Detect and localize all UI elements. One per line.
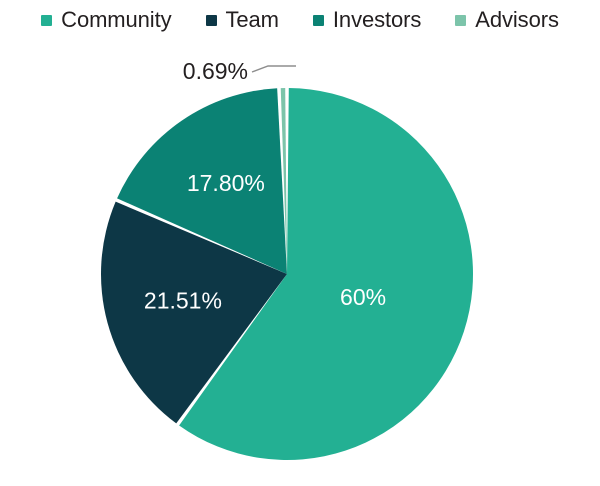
pie-plot-area: 60%21.51%17.80%0.69% [0,34,600,486]
legend-swatch-icon-advisors [455,15,466,26]
legend-item-advisors[interactable]: Advisors [455,9,559,31]
legend-item-investors[interactable]: Investors [313,9,421,31]
pie-slices [101,88,473,460]
advisors-leader-line [252,66,296,72]
pie-svg: 60%21.51%17.80%0.69% [0,34,600,486]
legend-item-community[interactable]: Community [41,9,171,31]
legend-label-advisors: Advisors [475,9,559,31]
legend-label-team: Team [226,9,279,31]
slice-label-investors: 17.80% [187,170,265,196]
slice-label-advisors: 0.69% [183,58,248,84]
legend-swatch-icon-team [206,15,217,26]
slice-label-team: 21.51% [144,288,222,314]
legend-item-team[interactable]: Team [206,9,279,31]
legend-swatch-icon-community [41,15,52,26]
legend-label-investors: Investors [333,9,421,31]
legend-label-community: Community [61,9,171,31]
slice-label-community: 60% [340,284,386,310]
pie-chart-figure: Community Team Investors Advisors 60%21.… [0,0,600,486]
legend-swatch-icon-investors [313,15,324,26]
